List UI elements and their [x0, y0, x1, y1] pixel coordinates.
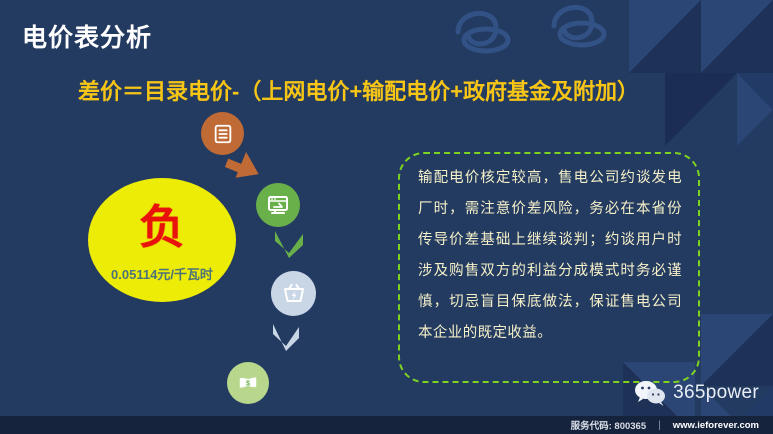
formula-subtitle: 差价＝目录电价-（上网电价+输配电价+政府基金及附加） — [78, 74, 639, 106]
arrow-down-icon — [272, 229, 306, 259]
document-list-icon — [212, 123, 234, 145]
monitor-chart-icon — [266, 193, 290, 217]
flow-arrow-3 — [270, 322, 302, 357]
svg-text:$: $ — [246, 378, 250, 387]
arrow-down-icon-2 — [270, 322, 302, 352]
flow-arrow-1 — [225, 148, 263, 187]
flow-step-basket — [271, 271, 316, 316]
wechat-icon — [634, 380, 666, 406]
decorative-loop-right — [546, 0, 626, 61]
footer-bar: 服务代码: 800365 | www.ieforever.com — [0, 416, 773, 434]
footer-service-code: 服务代码: 800365 — [571, 418, 647, 432]
flow-step-monitor — [256, 183, 300, 227]
money-bill-icon: $ — [237, 372, 259, 394]
triangle-pattern-top-right — [601, 0, 773, 146]
brand-name-label: 365power — [673, 382, 759, 404]
footer-separator: | — [658, 420, 661, 431]
basket-lightning-icon — [282, 282, 306, 306]
footer-website[interactable]: www.ieforever.com — [673, 420, 759, 431]
loop-icon — [452, 4, 532, 60]
loop-icon-2 — [546, 0, 626, 56]
note-box-text: 输配电价核定较高，售电公司约谈发电厂时，需注意价差风险，务必在本省份传导价差基础… — [418, 163, 682, 349]
negative-value-circle: 负 0.05114元/千瓦时 — [88, 178, 236, 302]
negative-sign-label: 负 — [139, 204, 185, 250]
decorative-loop-left — [452, 4, 532, 65]
arrow-down-right-icon — [225, 148, 263, 182]
triangle-pattern-svg — [601, 0, 773, 146]
flow-step-money: $ — [227, 362, 269, 404]
price-difference-value: 0.05114元/千瓦时 — [111, 264, 213, 283]
brand-watermark: 365power — [634, 380, 759, 406]
slide-canvas: 电价表分析 差价＝目录电价-（上网电价+输配电价+政府基金及附加） 负 0.05… — [0, 0, 773, 434]
flow-arrow-2 — [272, 229, 306, 264]
page-title: 电价表分析 — [22, 18, 152, 54]
